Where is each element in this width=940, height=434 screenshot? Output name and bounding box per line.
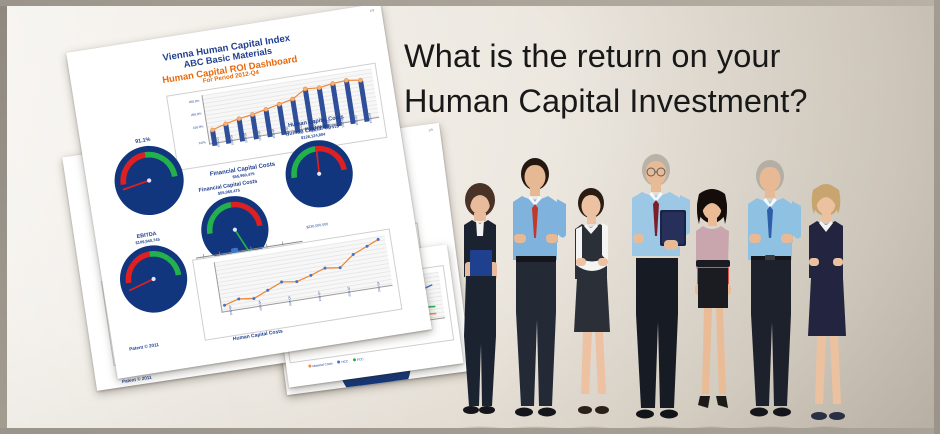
- page-number: 1/9: [370, 8, 375, 13]
- y-tick: 250.0%: [170, 112, 201, 121]
- border-top: [0, 0, 940, 6]
- headline-line-2: Human Capital Investment?: [404, 79, 874, 124]
- person-man-glasses-maroon-tie: [620, 148, 694, 434]
- headline: What is the return on your Human Capital…: [404, 34, 874, 124]
- business-people-group: [440, 126, 940, 434]
- gauge-dial: [279, 134, 359, 214]
- person-woman-pink-top-red-folder: [686, 184, 740, 434]
- person-man-grey-hair-blue-tie: [736, 154, 806, 434]
- border-left: [0, 0, 7, 434]
- person-man-blue-shirt-red-tie: [500, 152, 572, 434]
- page-number-back: 1/9: [428, 128, 433, 133]
- y-tick: 350.0%: [168, 99, 199, 108]
- patent-notice-main: Patent © 2011: [129, 342, 159, 352]
- human-capital-roi-banner: 1/9 2012-Q1: [0, 0, 940, 434]
- border-bottom: [0, 428, 940, 434]
- border-right: [934, 0, 940, 434]
- slider-value-right: $230,000,000: [306, 222, 328, 229]
- person-woman-navy-suit-blonde: [798, 178, 856, 434]
- person-woman-black-dress: [564, 182, 620, 434]
- headline-line-1: What is the return on your: [404, 34, 874, 79]
- gauge-ebitda: EBITDA $109,940,745: [112, 227, 195, 324]
- gauge-dial: [114, 239, 194, 319]
- report-sheet-main: 1/9 Vienna Human Capital Index ABC Basic…: [66, 3, 432, 379]
